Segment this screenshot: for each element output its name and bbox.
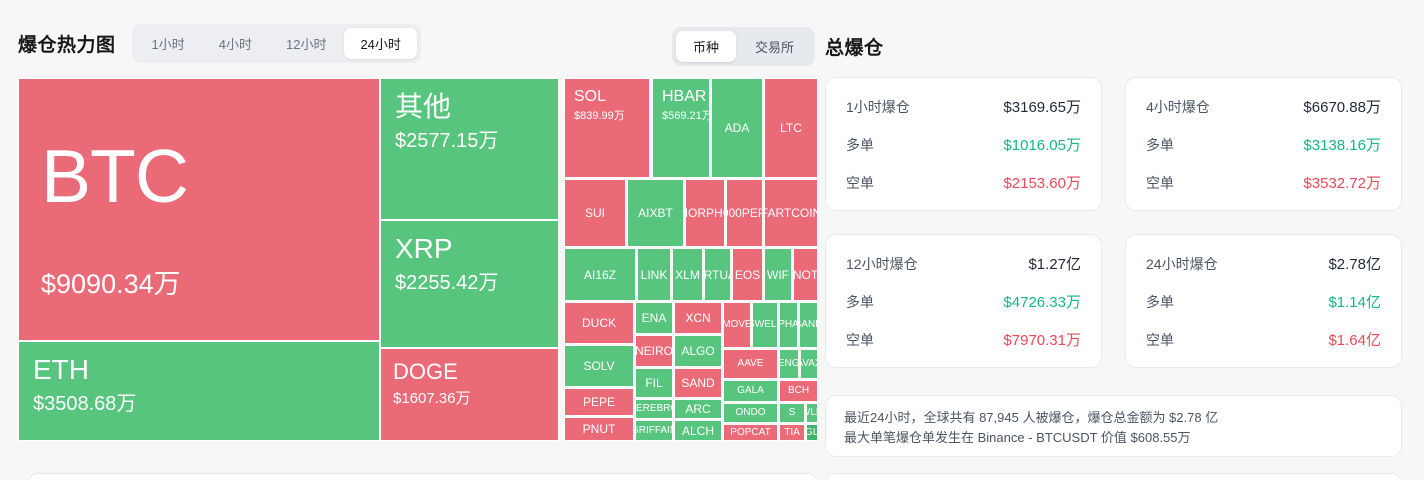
treemap-tile-zerebro[interactable]: ZEREBRO (635, 399, 673, 419)
stat-long-label: 多单 (1146, 292, 1174, 312)
tile-symbol: SOL (574, 89, 606, 105)
stat-total-row: 12小时爆仓 $1.27亿 (846, 253, 1081, 274)
tile-symbol: NOT (793, 269, 818, 281)
liquidation-heatmap-page: 爆仓热力图 1小时 4小时 12小时 24小时 币种 交易所 BTC$9090.… (0, 0, 1424, 480)
stat-title: 24小时爆仓 (1146, 254, 1218, 274)
stat-long-value: $1.14亿 (1328, 291, 1381, 312)
stat-card-12h[interactable]: 12小时爆仓 $1.27亿 多单 $4726.33万 空单 $7970.31万 (825, 234, 1102, 368)
tile-value: $3508.68万 (33, 394, 136, 414)
stat-short-label: 空单 (846, 173, 874, 193)
tile-value: $2577.15万 (395, 131, 498, 151)
treemap-tile-pepe[interactable]: PEPE (564, 388, 634, 416)
stat-long-row: 多单 $4726.33万 (846, 291, 1081, 312)
treemap-tile-tia[interactable]: TIA (779, 424, 805, 441)
heatmap-header: 爆仓热力图 1小时 4小时 12小时 24小时 (18, 24, 421, 63)
stat-long-row: 多单 $3138.16万 (1146, 134, 1381, 155)
treemap-tile-avax[interactable]: AVAX (800, 349, 818, 379)
tile-symbol: S (789, 408, 796, 418)
treemap-tile-wld[interactable]: WLD (806, 403, 818, 423)
tile-symbol: BTC (41, 139, 188, 214)
tile-symbol: SOLV (583, 360, 614, 372)
treemap-tile-morpho[interactable]: MORPHO (685, 179, 725, 247)
stat-short-label: 空单 (1146, 330, 1174, 350)
treemap-tile-1000pepe[interactable]: 1000PEPE (726, 179, 763, 247)
tile-symbol: SUI (585, 207, 605, 219)
treemap-tile-neiro[interactable]: NEIRO (635, 335, 673, 367)
tile-symbol: XRP (395, 235, 453, 263)
tab-1h[interactable]: 1小时 (136, 28, 201, 59)
tile-symbol: LINK (641, 269, 668, 281)
tile-symbol: SWELL (752, 320, 778, 330)
tile-symbol: AGLD (806, 428, 818, 438)
treemap-tile-aave[interactable]: AAVE (723, 349, 778, 379)
treemap-tile-agld[interactable]: AGLD (806, 424, 818, 441)
stat-total-row: 4小时爆仓 $6670.88万 (1146, 96, 1381, 117)
treemap-tile-ondo[interactable]: ONDO (723, 403, 778, 423)
right-bottom-card (825, 473, 1402, 480)
tile-symbol: XCN (685, 312, 710, 324)
tile-symbol: WIF (767, 269, 789, 281)
liquidation-treemap[interactable]: BTC$9090.34万ETH$3508.68万其他$2577.15万XRP$2… (18, 78, 818, 441)
stat-long-row: 多单 $1.14亿 (1146, 291, 1381, 312)
treemap-tile-s[interactable]: S (779, 403, 805, 423)
treemap-tile-btc[interactable]: BTC$9090.34万 (18, 78, 380, 341)
stat-long-label: 多单 (846, 135, 874, 155)
stat-short-value: $1.64亿 (1328, 329, 1381, 350)
stat-title: 1小时爆仓 (846, 97, 910, 117)
total-liquidation-panel: 总爆仓 1小时爆仓 $3169.65万 多单 $1016.05万 空单 $215… (818, 0, 1424, 480)
stat-card-4h[interactable]: 4小时爆仓 $6670.88万 多单 $3138.16万 空单 $3532.72… (1125, 77, 1402, 211)
treemap-tile-eth[interactable]: ETH$3508.68万 (18, 341, 380, 441)
stat-long-value: $4726.33万 (1003, 291, 1081, 312)
tile-symbol: ENA (642, 312, 667, 324)
tile-symbol: VIRTUAL (704, 269, 731, 281)
stat-short-label: 空单 (846, 330, 874, 350)
treemap-tile-move[interactable]: MOVE (723, 302, 751, 348)
treemap-tile-pnut[interactable]: PNUT (564, 417, 634, 441)
tile-value: $839.99万 (574, 111, 625, 122)
tile-symbol: HBAR (662, 89, 706, 105)
tile-symbol: TIA (784, 428, 800, 438)
tile-symbol: AAVE (738, 359, 764, 369)
tile-symbol: LTC (780, 122, 802, 134)
treemap-tile-duck[interactable]: DUCK (564, 302, 634, 344)
treemap-tile-doge[interactable]: DOGE$1607.36万 (380, 348, 559, 441)
treemap-tile-eos[interactable]: EOS (732, 248, 763, 301)
stat-long-value: $3138.16万 (1303, 134, 1381, 155)
tile-symbol: AVAX (800, 359, 818, 369)
tile-symbol: 1000PEPE (726, 207, 763, 219)
treemap-tile-aixbt[interactable]: AIXBT (627, 179, 684, 247)
tile-symbol: ALGO (681, 345, 714, 357)
tile-symbol: GALA (737, 386, 764, 396)
tile-symbol: PEPE (583, 396, 615, 408)
treemap-tile-bch[interactable]: BCH (779, 380, 818, 402)
stat-total-value: $1.27亿 (1028, 253, 1081, 274)
treemap-tile-xcn[interactable]: XCN (674, 302, 722, 334)
treemap-tile-xrp[interactable]: XRP$2255.42万 (380, 220, 559, 348)
treemap-tile-ena[interactable]: ENA (635, 302, 673, 334)
treemap-tile-arc[interactable]: ARC (674, 399, 722, 419)
treemap-tile-xlm[interactable]: XLM (672, 248, 703, 301)
tile-symbol: ONDO (736, 408, 766, 418)
tile-symbol: ARC (685, 403, 710, 415)
stat-short-row: 空单 $2153.60万 (846, 172, 1081, 193)
treemap-tile-algo[interactable]: ALGO (674, 335, 722, 367)
stat-short-value: $7970.31万 (1003, 329, 1081, 350)
treemap-tile-not[interactable]: NOT (793, 248, 818, 301)
summary-card: 最近24小时，全球共有 87,945 人被爆仓，爆仓总金额为 $2.78 亿 最… (825, 395, 1402, 457)
tile-symbol: WLD (806, 408, 818, 418)
stat-short-row: 空单 $3532.72万 (1146, 172, 1381, 193)
tab-24h[interactable]: 24小时 (344, 28, 416, 59)
tab-by-exchange[interactable]: 交易所 (738, 31, 811, 62)
left-bottom-card (28, 473, 818, 480)
stat-total-row: 24小时爆仓 $2.78亿 (1146, 253, 1381, 274)
total-liquidation-title: 总爆仓 (825, 33, 884, 60)
tile-symbol: AIXBT (638, 207, 673, 219)
stat-total-value: $6670.88万 (1303, 96, 1381, 117)
tab-4h[interactable]: 4小时 (203, 28, 268, 59)
treemap-tile-sand[interactable]: SAND (674, 368, 722, 398)
tile-symbol: NEIRO (635, 345, 673, 357)
stat-short-label: 空单 (1146, 173, 1174, 193)
stat-total-row: 1小时爆仓 $3169.65万 (846, 96, 1081, 117)
tile-value: $1607.36万 (393, 391, 471, 406)
tile-symbol: PNUT (583, 423, 616, 435)
treemap-tile-pengu[interactable]: PENGU (779, 349, 799, 379)
heatmap-panel: 爆仓热力图 1小时 4小时 12小时 24小时 币种 交易所 BTC$9090.… (0, 0, 818, 480)
treemap-tile-alch[interactable]: ALCH (674, 420, 722, 441)
tile-symbol: ETH (33, 356, 89, 384)
treemap-tile-ltc[interactable]: LTC (764, 78, 818, 178)
stat-short-value: $3532.72万 (1303, 172, 1381, 193)
tab-12h[interactable]: 12小时 (270, 28, 342, 59)
stat-long-label: 多单 (1146, 135, 1174, 155)
stat-long-label: 多单 (846, 292, 874, 312)
treemap-tile-wif[interactable]: WIF (764, 248, 792, 301)
treemap-tile-popcat[interactable]: POPCAT (723, 424, 778, 441)
treemap-tile-ai16z[interactable]: AI16Z (564, 248, 636, 301)
treemap-tile-gala[interactable]: GALA (723, 380, 778, 402)
stat-card-1h[interactable]: 1小时爆仓 $3169.65万 多单 $1016.05万 空单 $2153.60… (825, 77, 1102, 211)
treemap-tile-sol[interactable]: SOL$839.99万 (564, 78, 650, 178)
treemap-tile-fartcoin[interactable]: FARTCOIN (764, 179, 818, 247)
tile-symbol: GRIFFAIN (635, 426, 673, 436)
tile-value: $9090.34万 (41, 271, 181, 298)
treemap-tile-swell[interactable]: SWELL (752, 302, 778, 348)
stat-title: 12小时爆仓 (846, 254, 918, 274)
stat-card-grid: 1小时爆仓 $3169.65万 多单 $1016.05万 空单 $2153.60… (825, 77, 1402, 368)
tile-symbol: AI16Z (584, 269, 616, 281)
stat-card-24h[interactable]: 24小时爆仓 $2.78亿 多单 $1.14亿 空单 $1.64亿 (1125, 234, 1402, 368)
tile-symbol: PENGU (779, 359, 799, 369)
tile-symbol: MOVE (723, 320, 751, 330)
tile-value: $2255.42万 (395, 273, 498, 293)
tile-symbol: ALCH (682, 425, 714, 437)
tile-symbol: BCH (788, 386, 809, 396)
tile-symbol: DUCK (582, 317, 616, 329)
grouping-mode-tab-group[interactable]: 币种 交易所 (672, 27, 815, 66)
page-title: 爆仓热力图 (18, 30, 116, 57)
tile-symbol: MORPHO (685, 207, 725, 219)
tile-symbol: SAND (681, 377, 714, 389)
tile-symbol: EOS (735, 269, 760, 281)
tile-symbol: XLM (675, 269, 700, 281)
stat-short-value: $2153.60万 (1003, 172, 1081, 193)
stat-long-row: 多单 $1016.05万 (846, 134, 1081, 155)
tile-value: $569.21万 (662, 111, 710, 122)
treemap-tile-solv[interactable]: SOLV (564, 345, 634, 387)
stat-long-value: $1016.05万 (1003, 134, 1081, 155)
stat-total-value: $2.78亿 (1328, 253, 1381, 274)
tile-symbol: POPCAT (730, 428, 770, 438)
treemap-tile-ada[interactable]: ADA (711, 78, 763, 178)
treemap-tile-其他[interactable]: 其他$2577.15万 (380, 78, 559, 220)
tile-symbol: DOGE (393, 361, 458, 383)
summary-line-1: 最近24小时，全球共有 87,945 人被爆仓，爆仓总金额为 $2.78 亿 (844, 408, 1383, 428)
treemap-tile-griffain[interactable]: GRIFFAIN (635, 420, 673, 441)
tile-symbol: ZEREBRO (635, 404, 673, 414)
treemap-tile-virtual[interactable]: VIRTUAL (704, 248, 731, 301)
stat-title: 4小时爆仓 (1146, 97, 1210, 117)
tab-by-coin[interactable]: 币种 (676, 31, 736, 62)
treemap-tile-hbar[interactable]: HBAR$569.21万 (652, 78, 710, 178)
summary-line-2: 最大单笔爆仓单发生在 Binance - BTCUSDT 价值 $608.55万 (844, 428, 1383, 448)
tile-symbol: FARTCOIN (764, 207, 818, 219)
stat-short-row: 空单 $7970.31万 (846, 329, 1081, 350)
tile-symbol: 其他 (395, 93, 451, 121)
treemap-tile-fil[interactable]: FIL (635, 368, 673, 398)
treemap-tile-sui[interactable]: SUI (564, 179, 626, 247)
treemap-tile-sand[interactable]: SAND (799, 302, 818, 348)
treemap-tile-pha[interactable]: PHA (779, 302, 798, 348)
tile-symbol: PHA (779, 320, 798, 330)
tile-symbol: SAND (799, 320, 818, 330)
tile-symbol: ADA (725, 122, 750, 134)
stat-short-row: 空单 $1.64亿 (1146, 329, 1381, 350)
tile-symbol: FIL (645, 377, 662, 389)
treemap-tile-link[interactable]: LINK (637, 248, 671, 301)
stat-total-value: $3169.65万 (1003, 96, 1081, 117)
timeframe-tab-group[interactable]: 1小时 4小时 12小时 24小时 (132, 24, 421, 63)
